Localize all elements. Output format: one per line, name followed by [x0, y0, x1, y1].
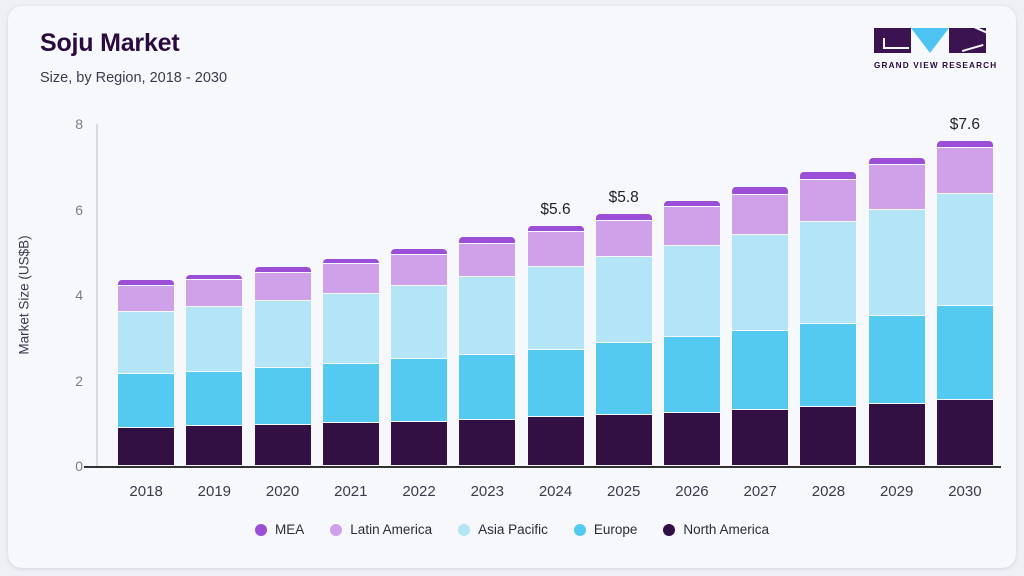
- bar-column-2018[interactable]: [118, 280, 174, 466]
- bar-segment-asia-pacific[interactable]: [323, 294, 379, 364]
- bar-segment-north-america[interactable]: [528, 417, 584, 466]
- y-tick-6: 6: [75, 202, 83, 218]
- bar-column-2027[interactable]: [732, 187, 788, 466]
- bar-segment-europe[interactable]: [937, 306, 993, 400]
- x-tick-2029: 2029: [869, 483, 925, 500]
- bar-segment-asia-pacific[interactable]: [800, 222, 856, 323]
- bar-column-2026[interactable]: [664, 201, 720, 466]
- bar-segment-asia-pacific[interactable]: [732, 235, 788, 330]
- legend-label: MEA: [275, 522, 304, 537]
- legend-swatch-icon: [663, 524, 675, 536]
- bar-segment-north-america[interactable]: [937, 400, 993, 466]
- bar-segment-europe[interactable]: [664, 337, 720, 413]
- legend-item-latin-america[interactable]: Latin America: [330, 522, 432, 537]
- bar-segment-mea[interactable]: [664, 201, 720, 208]
- x-tick-2030: 2030: [937, 483, 993, 500]
- bar-column-2023[interactable]: [459, 237, 515, 466]
- bar-segment-north-america[interactable]: [255, 425, 311, 466]
- bar-segment-north-america[interactable]: [596, 415, 652, 466]
- x-tick-2027: 2027: [732, 483, 788, 500]
- bar-segment-north-america[interactable]: [869, 404, 925, 466]
- bar-segment-north-america[interactable]: [732, 410, 788, 466]
- bar-segment-asia-pacific[interactable]: [664, 246, 720, 337]
- bar-segment-europe[interactable]: [596, 343, 652, 415]
- bar-segment-europe[interactable]: [186, 372, 242, 427]
- bar-segment-latin-america[interactable]: [255, 273, 311, 301]
- bar-segment-asia-pacific[interactable]: [596, 257, 652, 343]
- bar-segment-latin-america[interactable]: [732, 195, 788, 236]
- legend-label: North America: [683, 522, 769, 537]
- bar-segment-asia-pacific[interactable]: [869, 210, 925, 317]
- legend-swatch-icon: [330, 524, 342, 536]
- bar-segment-europe[interactable]: [391, 359, 447, 421]
- chart-subtitle: Size, by Region, 2018 - 2030: [40, 69, 227, 87]
- bar-segment-europe[interactable]: [255, 368, 311, 425]
- bar-segment-mea[interactable]: [937, 141, 993, 148]
- logo-mark: [874, 28, 986, 54]
- bar-segment-asia-pacific[interactable]: [391, 286, 447, 359]
- bar-segment-north-america[interactable]: [186, 426, 242, 466]
- bar-segment-north-america[interactable]: [391, 422, 447, 466]
- y-tick-4: 4: [75, 287, 83, 303]
- y-tick-2: 2: [75, 373, 83, 389]
- x-tick-2025: 2025: [596, 483, 652, 500]
- x-tick-2018: 2018: [118, 483, 174, 500]
- x-axis-line: [84, 466, 1001, 468]
- x-tick-2022: 2022: [391, 483, 447, 500]
- bar-segment-mea[interactable]: [869, 158, 925, 165]
- x-tick-2026: 2026: [664, 483, 720, 500]
- legend-swatch-icon: [255, 524, 267, 536]
- logo-r-icon: [949, 28, 986, 53]
- bar-segment-europe[interactable]: [118, 374, 174, 427]
- chart-card: Soju Market Size, by Region, 2018 - 2030…: [8, 6, 1016, 568]
- bar-segment-mea[interactable]: [596, 214, 652, 221]
- logo-g-icon: [874, 28, 911, 53]
- legend-label: Asia Pacific: [478, 522, 548, 537]
- bar-segment-north-america[interactable]: [800, 407, 856, 466]
- bar-segment-latin-america[interactable]: [186, 280, 242, 307]
- bar-segment-latin-america[interactable]: [596, 221, 652, 257]
- bar-column-2021[interactable]: [323, 259, 379, 466]
- legend-label: Europe: [594, 522, 638, 537]
- bar-segment-europe[interactable]: [528, 350, 584, 418]
- legend-item-europe[interactable]: Europe: [574, 522, 638, 537]
- y-tick-8: 8: [75, 116, 83, 132]
- bar-column-2022[interactable]: [391, 249, 447, 466]
- bar-segment-latin-america[interactable]: [869, 165, 925, 209]
- brand-logo: GRAND VIEW RESEARCH: [874, 28, 986, 70]
- bar-segment-europe[interactable]: [732, 331, 788, 410]
- bar-column-2019[interactable]: [186, 275, 242, 466]
- bar-segment-europe[interactable]: [800, 324, 856, 407]
- bar-segment-latin-america[interactable]: [323, 264, 379, 293]
- bar-segment-latin-america[interactable]: [937, 148, 993, 194]
- bar-segment-asia-pacific[interactable]: [937, 194, 993, 306]
- legend-item-north-america[interactable]: North America: [663, 522, 769, 537]
- bar-segment-europe[interactable]: [323, 364, 379, 423]
- bar-segment-latin-america[interactable]: [528, 232, 584, 267]
- bar-segment-north-america[interactable]: [459, 420, 515, 466]
- bar-value-label-2030: $7.6: [950, 116, 980, 134]
- bar-column-2024[interactable]: $5.6: [528, 226, 584, 466]
- bar-segment-latin-america[interactable]: [664, 207, 720, 245]
- bar-segment-latin-america[interactable]: [391, 255, 447, 286]
- chart-header: Soju Market Size, by Region, 2018 - 2030: [40, 28, 227, 87]
- x-tick-2028: 2028: [800, 483, 856, 500]
- bar-column-2020[interactable]: [255, 267, 311, 466]
- bar-segment-europe[interactable]: [459, 355, 515, 420]
- y-tick-0: 0: [75, 458, 83, 474]
- legend-item-asia-pacific[interactable]: Asia Pacific: [458, 522, 548, 537]
- y-axis-label: Market Size (US$B): [17, 235, 32, 354]
- bar-segment-asia-pacific[interactable]: [255, 301, 311, 368]
- logo-text: GRAND VIEW RESEARCH: [874, 61, 986, 70]
- x-tick-2023: 2023: [459, 483, 515, 500]
- bar-segment-europe[interactable]: [869, 316, 925, 403]
- page-title: Soju Market: [40, 28, 227, 58]
- logo-v-triangle-icon: [911, 28, 949, 53]
- bar-segment-latin-america[interactable]: [118, 286, 174, 313]
- bar-segment-latin-america[interactable]: [800, 180, 856, 223]
- plot-area: Market Size (US$B) 02468 $5.6$5.8$7.6 20…: [96, 124, 1001, 466]
- bar-column-2029[interactable]: [869, 158, 925, 466]
- bar-segment-north-america[interactable]: [664, 413, 720, 466]
- bar-segment-north-america[interactable]: [323, 423, 379, 466]
- bar-value-label-2024: $5.6: [540, 201, 570, 219]
- bar-column-2030[interactable]: $7.6: [937, 141, 993, 466]
- bar-segment-asia-pacific[interactable]: [186, 307, 242, 371]
- bar-segment-north-america[interactable]: [118, 428, 174, 466]
- x-tick-2021: 2021: [323, 483, 379, 500]
- legend-item-mea[interactable]: MEA: [255, 522, 304, 537]
- bar-column-2025[interactable]: $5.8: [596, 214, 652, 466]
- legend-swatch-icon: [574, 524, 586, 536]
- bar-value-label-2025: $5.8: [609, 189, 639, 207]
- bar-segment-latin-america[interactable]: [459, 244, 515, 277]
- legend-swatch-icon: [458, 524, 470, 536]
- bar-segment-asia-pacific[interactable]: [118, 312, 174, 374]
- legend-label: Latin America: [350, 522, 432, 537]
- bar-segment-mea[interactable]: [732, 187, 788, 194]
- bar-column-2028[interactable]: [800, 172, 856, 466]
- bar-segment-asia-pacific[interactable]: [459, 277, 515, 355]
- x-tick-2019: 2019: [186, 483, 242, 500]
- chart-legend: MEALatin AmericaAsia PacificEuropeNorth …: [8, 522, 1016, 537]
- bar-group: $5.6$5.8$7.6: [96, 124, 1001, 466]
- bar-segment-mea[interactable]: [800, 172, 856, 179]
- x-tick-2020: 2020: [255, 483, 311, 500]
- bar-segment-asia-pacific[interactable]: [528, 267, 584, 350]
- x-tick-2024: 2024: [528, 483, 584, 500]
